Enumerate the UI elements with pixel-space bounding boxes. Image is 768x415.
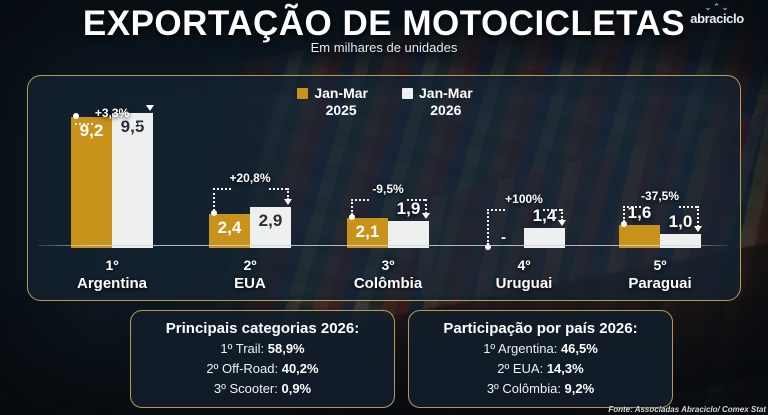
bracket-end-arrow-icon [422,213,430,219]
legend-swatch-2026 [402,88,413,99]
category-label-uruguai: 4ºUruguai [458,256,590,293]
bracket-end-arrow-icon [694,226,702,232]
list-item: 2º Off-Road: 40,2% [131,359,394,379]
category-name: Uruguai [458,274,590,293]
list-item: 3º Colômbia: 9,2% [409,379,672,399]
list-item: 3º Scooter: 0,9% [131,379,394,399]
panel-country-share-title: Participação por país 2026: [409,318,672,339]
chart-baseline-axis [38,245,728,246]
country-value-1: 46,5% [561,341,598,356]
bar-pair: 1,61,0 [594,106,726,248]
bar-group-eua: 2,42,9+20,8% [184,106,316,248]
category-label-eua: 2ºEUA [184,256,316,293]
bracket-start-dot [73,113,79,119]
legend-label-2026-line1: Jan-Mar [419,85,473,101]
category-rank: 2º [184,256,316,274]
bar-value-2025-colômbia: 2,1 [356,222,380,242]
category-value-3: 0,9% [281,381,311,396]
bar-2025-colômbia: 2,1 [347,218,388,248]
category-label-colômbia: 3ºColômbia [322,256,454,293]
bracket-start-dot [211,210,217,216]
category-value-2: 40,2% [282,361,319,376]
category-rank-3: 3º Scooter: [214,381,282,396]
delta-label-colômbia: -9,5% [322,182,454,196]
category-label-paraguai: 5ºParaguai [594,256,726,293]
infographic-stage: EXPORTAÇÃO DE MOTOCICLETAS Em milhares d… [0,0,768,415]
abraciclo-logo: ⌄⌃⌄ abraciclo [674,3,760,33]
bracket-start-dot [349,214,355,220]
bracket-end-arrow-icon [558,220,566,226]
bar-2025-eua: 2,4 [209,214,250,248]
bar-pair: 2,11,9 [322,106,454,248]
bracket-end-arrow-icon [284,199,292,205]
bar-pair: 9,29,5 [46,106,178,248]
country-rank-1: 1º Argentina: [483,341,561,356]
country-value-2: 14,3% [547,361,584,376]
list-item: 1º Trail: 58,9% [131,339,394,359]
delta-label-uruguai: +100% [458,192,590,206]
bar-2025-argentina: 9,2 [71,117,112,248]
category-rank-1: 1º Trail: [220,341,267,356]
bar-2026-colômbia: 1,9 [388,221,429,248]
bar-value-2026-paraguai: 1,0 [669,212,693,232]
page-title: EXPORTAÇÃO DE MOTOCICLETAS [0,4,768,44]
bar-value-2025-uruguai: - [501,229,506,246]
bar-group-paraguai: 1,61,0-37,5% [594,106,726,248]
legend-label-2025-line1: Jan-Mar [314,85,368,101]
category-name: Paraguai [594,274,726,293]
panel-top-categories: Principais categorias 2026: 1º Trail: 58… [130,310,395,408]
bar-group-argentina: 9,29,5+3,3% [46,106,178,248]
category-rank-2: 2º Off-Road: [206,361,281,376]
category-rank: 1º [46,256,178,274]
bar-group-colômbia: 2,11,9-9,5% [322,106,454,248]
bar-2026-argentina: 9,5 [112,113,153,248]
logo-mark-icon: ⌄⌃⌄ [674,3,760,12]
list-item: 2º EUA: 14,3% [409,359,672,379]
chart-panel: Jan-Mar 2025 Jan-Mar 2026 9,29,5+3,3%2,4… [27,75,741,301]
category-value-1: 58,9% [268,341,305,356]
bar-2026-eua: 2,9 [250,207,291,248]
bar-chart-plot: 9,29,5+3,3%2,42,9+20,8%2,11,9-9,5%-1,4+1… [38,106,732,248]
list-item: 1º Argentina: 46,5% [409,339,672,359]
category-rank: 5º [594,256,726,274]
country-rank-2: 2º EUA: [497,361,547,376]
category-name: Colômbia [322,274,454,293]
delta-label-argentina: +3,3% [46,106,178,120]
bar-value-2026-colômbia: 1,9 [397,199,421,219]
bar-value-2026-eua: 2,9 [259,211,283,231]
panel-country-share: Participação por país 2026: 1º Argentina… [408,310,673,408]
bar-value-2025-eua: 2,4 [218,218,242,238]
legend-swatch-2025 [297,88,308,99]
category-name: EUA [184,274,316,293]
bracket-start-dot [621,221,627,227]
bar-value-2026-argentina: 9,5 [121,117,145,137]
country-rank-3: 3º Colômbia: [487,381,565,396]
page-subtitle: Em milhares de unidades [0,40,768,55]
category-rank: 4º [458,256,590,274]
delta-label-paraguai: -37,5% [594,189,726,203]
panel-top-categories-title: Principais categorias 2026: [131,318,394,339]
category-label-argentina: 1ºArgentina [46,256,178,293]
category-name: Argentina [46,274,178,293]
logo-wordmark: abraciclo [674,12,760,26]
delta-label-eua: +20,8% [184,171,316,185]
bracket-end-arrow-icon [146,105,154,111]
category-rank: 3º [322,256,454,274]
country-value-3: 9,2% [565,381,595,396]
source-note: Fonte: Associadas Abraciclo/ Comex Stat [608,405,766,414]
bar-pair: -1,4 [458,106,590,248]
bar-group-uruguai: -1,4+100% [458,106,590,248]
